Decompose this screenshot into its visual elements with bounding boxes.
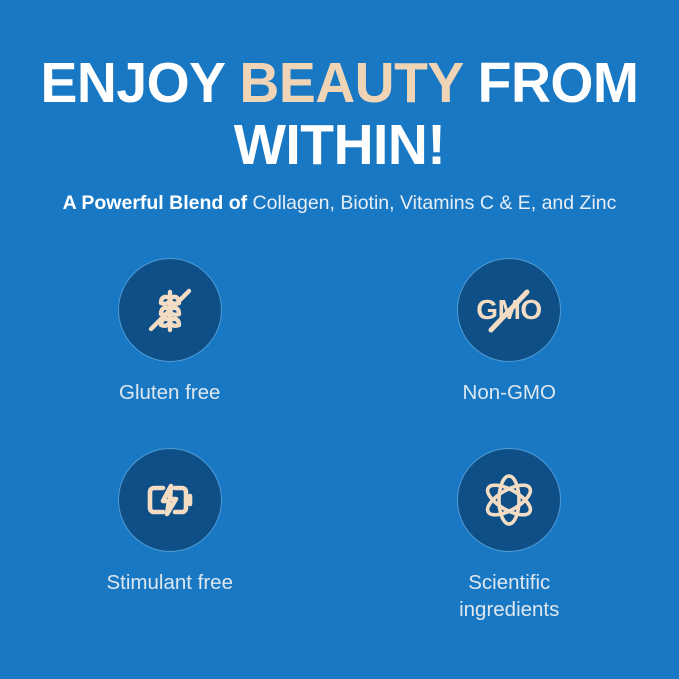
subtitle-ingredients-text: Collagen, Biotin, Vitamins C & E, and Zi… xyxy=(247,192,616,214)
feature-badge-non-gmo: GMO Non-GMO xyxy=(340,258,679,448)
badge-circle-scientific-ingredients xyxy=(457,448,561,552)
badge-circle-non-gmo: GMO xyxy=(457,258,561,362)
feature-badge-gluten-free: Gluten free xyxy=(0,258,340,448)
headline-text-after-accent: FROM xyxy=(463,51,639,115)
subtitle: A Powerful Blend of Collagen, Biotin, Vi… xyxy=(0,190,679,216)
gmo-crossed-out-icon: GMO xyxy=(474,278,544,342)
feature-badge-scientific-ingredients: Scientific ingredients xyxy=(340,448,679,638)
badge-label-stimulant-free: Stimulant free xyxy=(107,569,233,596)
feature-badge-grid: Gluten free GMO Non-GMO xyxy=(0,258,679,638)
page-title: ENJOY BEAUTY FROM WITHIN! xyxy=(10,52,669,176)
subtitle-strong-text: A Powerful Blend of xyxy=(63,192,248,214)
headline-line-2: WITHIN! xyxy=(10,114,669,176)
wheat-crossed-out-icon xyxy=(138,278,202,342)
headline-text-before-accent: ENJOY xyxy=(40,51,239,115)
headline-line-1: ENJOY BEAUTY FROM xyxy=(10,52,669,114)
feature-badge-stimulant-free: Stimulant free xyxy=(0,448,340,638)
badge-label-non-gmo: Non-GMO xyxy=(463,379,556,406)
battery-bolt-broken-icon xyxy=(138,468,202,532)
badge-label-scientific-ingredients: Scientific ingredients xyxy=(424,569,594,623)
atom-icon xyxy=(477,468,541,532)
badge-circle-gluten-free xyxy=(118,258,222,362)
beauty-from-within-infographic: ENJOY BEAUTY FROM WITHIN! A Powerful Ble… xyxy=(0,0,679,679)
badge-circle-stimulant-free xyxy=(118,448,222,552)
headline-accent-word: BEAUTY xyxy=(239,51,462,115)
badge-label-gluten-free: Gluten free xyxy=(119,379,220,406)
